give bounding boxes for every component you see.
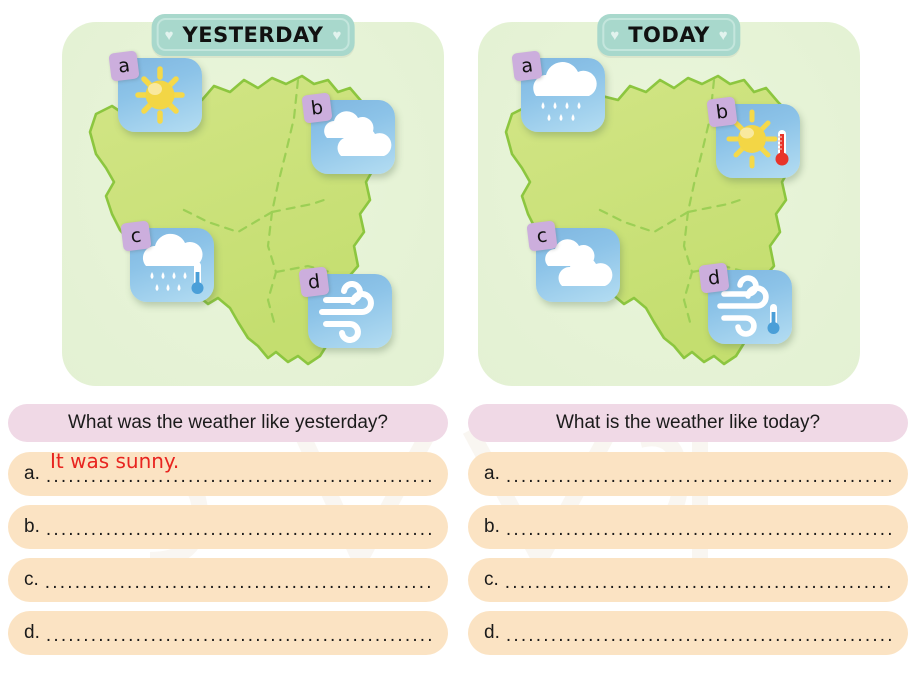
answer-row[interactable]: b. .....................................… [8, 505, 448, 549]
answer-key: b. [24, 516, 40, 538]
question-prompt-yesterday: What was the weather like yesterday? [8, 404, 448, 442]
question-column-today: What is the weather like today? a. .....… [468, 404, 908, 664]
panel-badge-today: ♥ TODAY ♥ [597, 14, 740, 56]
marker-label: a [108, 50, 139, 81]
weather-marker-today-d[interactable]: d [700, 264, 792, 344]
questions-area: What was the weather like yesterday? a. … [0, 404, 920, 684]
badge-label: TODAY [628, 23, 710, 47]
answer-key: d. [24, 622, 40, 644]
answer-row[interactable]: b. .....................................… [468, 505, 908, 549]
weather-marker-today-c[interactable]: c [528, 222, 620, 302]
weather-marker-yesterday-a[interactable]: a [110, 52, 202, 132]
panel-badge-yesterday: ♥ YESTERDAY ♥ [152, 14, 355, 56]
answer-key: c. [24, 569, 39, 591]
marker-label: d [698, 262, 729, 293]
handwritten-answer: It was sunny. [50, 452, 179, 473]
thermometer-cold [192, 262, 204, 294]
question-prompt-today: What is the weather like today? [468, 404, 908, 442]
answer-dotted-line: ........................................… [506, 516, 892, 538]
heart-icon-right: ♥ [719, 28, 728, 43]
heart-icon-left: ♥ [165, 28, 174, 43]
thermometer-cold [768, 304, 780, 334]
answer-dotted-line: ........................................… [46, 516, 432, 538]
thermometer-hot [776, 130, 789, 166]
answer-dotted-line: ........................................… [505, 569, 892, 591]
answer-dotted-line: ........................................… [506, 463, 892, 485]
weather-marker-yesterday-b[interactable]: b [303, 94, 395, 174]
weather-marker-yesterday-c[interactable]: c [122, 222, 214, 302]
answer-row[interactable]: d. .....................................… [8, 611, 448, 655]
marker-label: b [301, 92, 332, 123]
badge-label: YESTERDAY [183, 23, 324, 47]
heart-icon-right: ♥ [332, 28, 341, 43]
answer-key: b. [484, 516, 500, 538]
question-column-yesterday: What was the weather like yesterday? a. … [8, 404, 448, 664]
heart-icon-left: ♥ [610, 28, 619, 43]
weather-maps-area: ♥ YESTERDAY ♥ ♥ [0, 0, 920, 402]
answer-key: a. [484, 463, 500, 485]
answer-dotted-line: ........................................… [46, 622, 432, 644]
marker-label: c [120, 220, 151, 251]
marker-label: a [511, 50, 542, 81]
answer-row[interactable]: c. .....................................… [8, 558, 448, 602]
answer-dotted-line: ........................................… [506, 622, 892, 644]
question-text: What was the weather like yesterday? [68, 412, 388, 434]
answer-row[interactable]: d. .....................................… [468, 611, 908, 655]
answer-key: c. [484, 569, 499, 591]
answer-dotted-line: ........................................… [45, 569, 432, 591]
question-text: What is the weather like today? [556, 412, 820, 434]
answer-row[interactable]: a. .....................................… [8, 452, 448, 496]
answer-row[interactable]: a. .....................................… [468, 452, 908, 496]
answer-row[interactable]: c. .....................................… [468, 558, 908, 602]
weather-marker-yesterday-d[interactable]: d [300, 268, 392, 348]
answer-key: a. [24, 463, 40, 485]
marker-label: b [706, 96, 737, 127]
marker-label: c [526, 220, 557, 251]
weather-marker-today-a[interactable]: a [513, 52, 605, 132]
marker-label: d [298, 266, 329, 297]
answer-key: d. [484, 622, 500, 644]
weather-marker-today-b[interactable]: b [708, 98, 800, 178]
